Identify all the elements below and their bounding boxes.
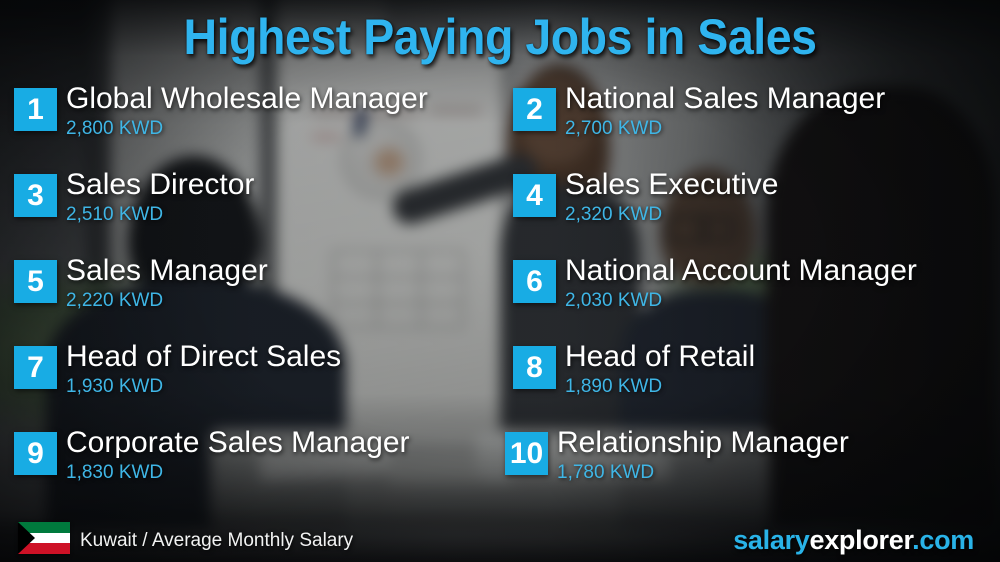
list-item-rank-5[interactable]: 5 Sales Manager 2,220 KWD bbox=[14, 260, 268, 313]
job-salary: 1,930 KWD bbox=[66, 375, 341, 399]
job-salary: 1,830 KWD bbox=[66, 461, 410, 485]
item-texts: Sales Manager 2,220 KWD bbox=[66, 254, 268, 313]
job-title: Head of Direct Sales bbox=[66, 340, 341, 374]
job-salary: 2,220 KWD bbox=[66, 289, 268, 313]
logo-text-salary: salary bbox=[733, 525, 809, 555]
rank-badge: 1 bbox=[14, 88, 57, 131]
job-title: Head of Retail bbox=[565, 340, 755, 374]
country-caption: Kuwait / Average Monthly Salary bbox=[80, 530, 353, 552]
job-title: Corporate Sales Manager bbox=[66, 426, 410, 460]
job-salary: 2,510 KWD bbox=[66, 203, 254, 227]
list-item-rank-8[interactable]: 8 Head of Retail 1,890 KWD bbox=[513, 346, 755, 399]
item-texts: Sales Executive 2,320 KWD bbox=[565, 168, 778, 227]
job-title: Sales Director bbox=[66, 168, 254, 202]
rank-badge: 10 bbox=[505, 432, 548, 475]
item-texts: Head of Retail 1,890 KWD bbox=[565, 340, 755, 399]
rank-badge: 2 bbox=[513, 88, 556, 131]
job-salary: 2,700 KWD bbox=[565, 117, 885, 141]
infographic-canvas: Highest Paying Jobs in Sales 1 Global Wh… bbox=[0, 0, 1000, 562]
rank-badge: 5 bbox=[14, 260, 57, 303]
list-item-rank-7[interactable]: 7 Head of Direct Sales 1,930 KWD bbox=[14, 346, 341, 399]
job-salary: 2,030 KWD bbox=[565, 289, 917, 313]
salaryexplorer-logo[interactable]: salaryexplorer.com bbox=[733, 525, 974, 556]
list-item-rank-1[interactable]: 1 Global Wholesale Manager 2,800 KWD bbox=[14, 88, 428, 141]
job-title: National Account Manager bbox=[565, 254, 917, 288]
footer-bar: Kuwait / Average Monthly Salary salaryex… bbox=[0, 506, 1000, 562]
content-layer: Highest Paying Jobs in Sales 1 Global Wh… bbox=[0, 0, 1000, 562]
rank-badge: 7 bbox=[14, 346, 57, 389]
rank-badge: 6 bbox=[513, 260, 556, 303]
job-salary: 2,320 KWD bbox=[565, 203, 778, 227]
item-texts: Global Wholesale Manager 2,800 KWD bbox=[66, 82, 428, 141]
item-texts: Corporate Sales Manager 1,830 KWD bbox=[66, 426, 410, 485]
list-item-rank-4[interactable]: 4 Sales Executive 2,320 KWD bbox=[513, 174, 778, 227]
job-salary: 1,780 KWD bbox=[557, 461, 849, 485]
job-salary: 2,800 KWD bbox=[66, 117, 428, 141]
job-title: Sales Executive bbox=[565, 168, 778, 202]
rank-badge: 9 bbox=[14, 432, 57, 475]
kuwait-flag-icon bbox=[18, 522, 70, 554]
item-texts: National Sales Manager 2,700 KWD bbox=[565, 82, 885, 141]
job-salary: 1,890 KWD bbox=[565, 375, 755, 399]
list-item-rank-9[interactable]: 9 Corporate Sales Manager 1,830 KWD bbox=[14, 432, 410, 485]
logo-text-domain: .com bbox=[912, 525, 974, 555]
list-item-rank-6[interactable]: 6 National Account Manager 2,030 KWD bbox=[513, 260, 917, 313]
job-title: Relationship Manager bbox=[557, 426, 849, 460]
item-texts: Relationship Manager 1,780 KWD bbox=[557, 426, 849, 485]
rank-badge: 3 bbox=[14, 174, 57, 217]
item-texts: Sales Director 2,510 KWD bbox=[66, 168, 254, 227]
job-title: Sales Manager bbox=[66, 254, 268, 288]
list-item-rank-10[interactable]: 10 Relationship Manager 1,780 KWD bbox=[505, 432, 849, 485]
rank-badge: 8 bbox=[513, 346, 556, 389]
job-title: National Sales Manager bbox=[565, 82, 885, 116]
logo-text-explorer: explorer bbox=[810, 525, 913, 555]
page-title: Highest Paying Jobs in Sales bbox=[35, 8, 965, 66]
rank-badge: 4 bbox=[513, 174, 556, 217]
flag-hoist-trapezoid bbox=[18, 522, 35, 554]
list-item-rank-3[interactable]: 3 Sales Director 2,510 KWD bbox=[14, 174, 254, 227]
item-texts: National Account Manager 2,030 KWD bbox=[565, 254, 917, 313]
list-item-rank-2[interactable]: 2 National Sales Manager 2,700 KWD bbox=[513, 88, 885, 141]
item-texts: Head of Direct Sales 1,930 KWD bbox=[66, 340, 341, 399]
job-title: Global Wholesale Manager bbox=[66, 82, 428, 116]
